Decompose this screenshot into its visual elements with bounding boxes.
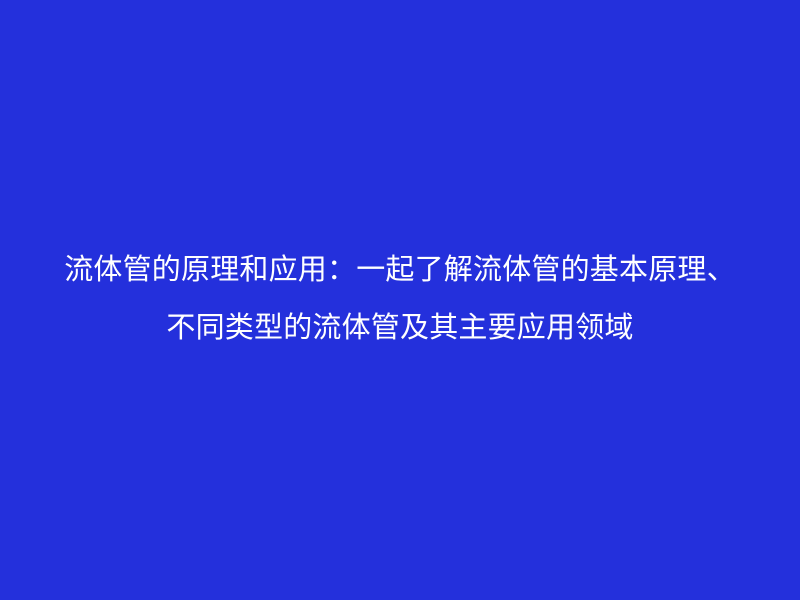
title-block: 流体管的原理和应用：一起了解流体管的基本原理、不同类型的流体管及其主要应用领域 [50, 241, 750, 357]
page-title: 流体管的原理和应用：一起了解流体管的基本原理、不同类型的流体管及其主要应用领域 [50, 241, 750, 357]
title-slide: 流体管的原理和应用：一起了解流体管的基本原理、不同类型的流体管及其主要应用领域 [0, 0, 800, 600]
